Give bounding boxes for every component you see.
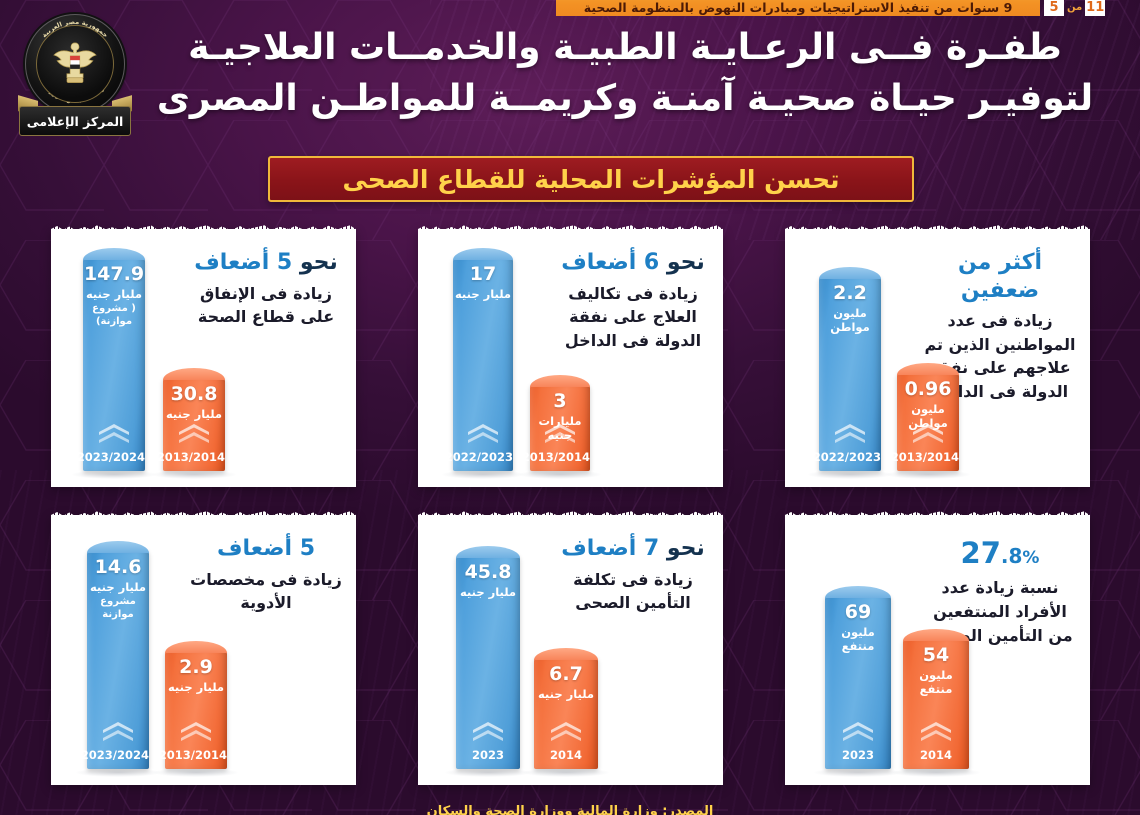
stat-card-highlight: نحو 5 أضعاف bbox=[190, 249, 342, 277]
highlight-accent: 7 أضعاف bbox=[561, 536, 659, 561]
bar-top-face bbox=[165, 641, 227, 653]
stat-card-inner: 5 أضعافزيادة فى مخصصات الأدوية14.6مليار … bbox=[51, 515, 356, 785]
stat-card: نحو 7 أضعافزيادة فى تكلفة التأمين الصحى4… bbox=[418, 515, 723, 785]
bar-year-label: 2022/2023 bbox=[819, 450, 881, 464]
bar-top-face bbox=[87, 541, 149, 553]
bar-current: 2.2مليون مواطن2022/2023 bbox=[819, 275, 881, 471]
title-line-2: لتوفيـر حيـاة صحيـة آمنـة وكريمــة للموا… bbox=[150, 73, 1100, 124]
bar-baseline: 6.7مليار جنيه2014 bbox=[534, 656, 598, 769]
chevron-up-icon bbox=[101, 721, 135, 743]
stat-card-text: 5 أضعافزيادة فى مخصصات الأدوية bbox=[190, 535, 342, 615]
source-footer-text: المصدر: وزارة المالية ووزارة الصحة والسك… bbox=[427, 804, 714, 815]
stat-card-highlight: 5 أضعاف bbox=[190, 535, 342, 563]
stat-card-description: زيادة فى تكلفة التأمين الصحى bbox=[557, 568, 709, 615]
stat-card: أكثر من ضعفينزيادة فى عدد المواطنين الذي… bbox=[785, 229, 1090, 487]
stat-card-description: زيادة فى الإنفاق على قطاع الصحة bbox=[190, 282, 342, 329]
highlight-accent: أكثر من ضعفين bbox=[958, 250, 1042, 303]
highlight-prefix: نحو bbox=[659, 536, 705, 561]
bar-note: ( مشروع موازنة) bbox=[83, 303, 145, 328]
bar-value: 14.6 bbox=[95, 558, 142, 578]
bar-unit: مليون منتفع bbox=[825, 625, 891, 654]
bar-top-face bbox=[819, 267, 881, 279]
bar-year-label: 2023 bbox=[825, 748, 891, 762]
page-total: 11 bbox=[1085, 0, 1105, 16]
stat-card-inner: نحو 6 أضعافزيادة فى تكاليف العلاج على نف… bbox=[418, 229, 723, 487]
emblem-inner-circle bbox=[36, 25, 114, 103]
chevron-up-icon bbox=[919, 721, 953, 743]
bar-unit: مليار جنيه bbox=[90, 580, 146, 594]
stat-card-inner: نحو 7 أضعافزيادة فى تكلفة التأمين الصحى4… bbox=[418, 515, 723, 785]
bar-baseline: 30.8مليار جنيه2013/2014 bbox=[163, 376, 225, 471]
bar-top-face bbox=[83, 248, 145, 260]
bar-value: 30.8 bbox=[171, 385, 218, 405]
bar-value: 2.2 bbox=[833, 284, 867, 304]
stat-card-highlight: 27.8% bbox=[924, 535, 1076, 571]
page-indicator: 11 من 5 bbox=[1044, 0, 1105, 16]
bar-unit: مليار جنيه bbox=[455, 287, 511, 301]
highlight-prefix: نحو bbox=[292, 250, 338, 275]
bar-year-label: 2013/2014 bbox=[163, 450, 225, 464]
bar-unit: مليار جنيه bbox=[538, 687, 594, 701]
bar-shadow bbox=[814, 768, 902, 777]
bar-value: 6.7 bbox=[549, 665, 583, 685]
bar-shadow bbox=[442, 470, 524, 479]
bar-shadow bbox=[808, 470, 892, 479]
bar-shadow bbox=[154, 768, 238, 777]
infographic-page: 9 سنوات من تنفيذ الاستراتيجيات ومبادرات … bbox=[0, 0, 1140, 815]
chevron-up-icon bbox=[97, 423, 131, 445]
highlight-accent: 6 أضعاف bbox=[561, 250, 659, 275]
source-footer: المصدر: وزارة المالية ووزارة الصحة والسك… bbox=[0, 800, 1140, 815]
bar-year-label: 2013/2014 bbox=[530, 450, 590, 464]
stat-card-inner: أكثر من ضعفينزيادة فى عدد المواطنين الذي… bbox=[785, 229, 1090, 487]
emblem-banner: المركز الإعلامى bbox=[19, 106, 131, 136]
bar-value: 0.96 bbox=[905, 380, 952, 400]
bar-year-label: 2023/2024 bbox=[83, 450, 145, 464]
highlight-accent: 5 أضعاف bbox=[217, 536, 315, 561]
highlight-prefix: نحو bbox=[659, 250, 705, 275]
stat-card-inner: 27.8%نسبة زيادة عدد الأفراد المنتفعين من… bbox=[785, 515, 1090, 785]
bar-value: 17 bbox=[470, 265, 496, 285]
bar-year-label: 2013/2014 bbox=[165, 748, 227, 762]
stat-card-text: نحو 7 أضعافزيادة فى تكلفة التأمين الصحى bbox=[557, 535, 709, 615]
top-banner-text: 9 سنوات من تنفيذ الاستراتيجيات ومبادرات … bbox=[584, 0, 1013, 15]
stat-card-inner: نحو 5 أضعافزيادة فى الإنفاق على قطاع الص… bbox=[51, 229, 356, 487]
bar-current: 45.8مليار جنيه2023 bbox=[456, 554, 520, 769]
bar-shadow bbox=[892, 768, 980, 777]
chevron-up-icon bbox=[466, 423, 500, 445]
eagle-icon bbox=[49, 38, 101, 90]
bar-unit: مليون منتفع bbox=[903, 668, 969, 697]
section-subtitle-text: تحسن المؤشرات المحلية للقطاع الصحى bbox=[343, 165, 840, 194]
stat-card-text: نحو 5 أضعافزيادة فى الإنفاق على قطاع الص… bbox=[190, 249, 342, 329]
stat-card-description: زيادة فى مخصصات الأدوية bbox=[190, 568, 342, 615]
stat-card: نحو 5 أضعافزيادة فى الإنفاق على قطاع الص… bbox=[51, 229, 356, 487]
bar-note: مشروع موازنة bbox=[87, 596, 149, 621]
chevron-up-icon bbox=[833, 423, 867, 445]
bar-current: 14.6مليار جنيهمشروع موازنة2023/2024 bbox=[87, 549, 149, 769]
chevron-up-icon bbox=[911, 423, 945, 445]
highlight-accent: 5 أضعاف bbox=[194, 250, 292, 275]
bar-top-face bbox=[534, 648, 598, 660]
bar-year-label: 2023 bbox=[456, 748, 520, 762]
bar-baseline: 54مليون منتفع2014 bbox=[903, 637, 969, 769]
page-title: طفـرة فــى الرعـايـة الطبيـة والخدمــات … bbox=[150, 22, 1100, 124]
bar-value: 45.8 bbox=[465, 563, 512, 583]
bar-current: 147.9مليار جنيه( مشروع موازنة)2023/2024 bbox=[83, 256, 145, 471]
title-line-1: طفـرة فــى الرعـايـة الطبيـة والخدمــات … bbox=[150, 22, 1100, 73]
chevron-up-icon bbox=[179, 721, 213, 743]
bar-current: 69مليون منتفع2023 bbox=[825, 594, 891, 769]
bar-baseline: 0.96مليون مواطن2013/2014 bbox=[897, 371, 959, 471]
bar-shadow bbox=[445, 768, 531, 777]
bar-top-face bbox=[163, 368, 225, 380]
bar-top-face bbox=[453, 248, 513, 260]
pct-int: 27 bbox=[961, 536, 1001, 570]
page-current: 5 bbox=[1044, 0, 1064, 16]
bar-unit: مليون مواطن bbox=[819, 306, 881, 335]
bar-shadow bbox=[152, 470, 236, 479]
bar-unit: مليار جنيه bbox=[86, 287, 142, 301]
bar-top-face bbox=[456, 546, 520, 558]
chevron-up-icon bbox=[543, 423, 577, 445]
bar-value: 3 bbox=[553, 392, 566, 412]
bar-shadow bbox=[76, 768, 160, 777]
bar-year-label: 2014 bbox=[534, 748, 598, 762]
bar-shadow bbox=[519, 470, 601, 479]
section-subtitle-banner: تحسن المؤشرات المحلية للقطاع الصحى bbox=[268, 156, 914, 202]
bar-value: 147.9 bbox=[84, 265, 144, 285]
stat-card-text: نحو 6 أضعافزيادة فى تكاليف العلاج على نف… bbox=[557, 249, 709, 353]
bar-year-label: 2014 bbox=[903, 748, 969, 762]
bar-year-label: 2022/2023 bbox=[453, 450, 513, 464]
page-of-label: من bbox=[1067, 2, 1082, 16]
stat-card-description: زيادة فى تكاليف العلاج على نفقة الدولة ف… bbox=[557, 282, 709, 353]
pct-sign: % bbox=[1022, 548, 1039, 568]
stat-card-highlight: نحو 7 أضعاف bbox=[557, 535, 709, 563]
stat-card-highlight: أكثر من ضعفين bbox=[924, 249, 1076, 304]
chevron-up-icon bbox=[549, 721, 583, 743]
bar-top-face bbox=[825, 586, 891, 598]
pct-dec: .8 bbox=[1001, 544, 1023, 568]
emblem-banner-text: المركز الإعلامى bbox=[27, 114, 124, 129]
bar-unit: مليار جنيه bbox=[168, 680, 224, 694]
bar-year-label: 2013/2014 bbox=[897, 450, 959, 464]
bar-year-label: 2023/2024 bbox=[87, 748, 149, 762]
stat-card: نحو 6 أضعافزيادة فى تكاليف العلاج على نف… bbox=[418, 229, 723, 487]
chevron-up-icon bbox=[177, 423, 211, 445]
top-banner: 9 سنوات من تنفيذ الاستراتيجيات ومبادرات … bbox=[556, 0, 1040, 16]
stat-card-highlight: نحو 6 أضعاف bbox=[557, 249, 709, 277]
bar-value: 54 bbox=[923, 646, 949, 666]
bar-shadow bbox=[886, 470, 970, 479]
stat-card: 5 أضعافزيادة فى مخصصات الأدوية14.6مليار … bbox=[51, 515, 356, 785]
bar-unit: مليار جنيه bbox=[460, 585, 516, 599]
bar-value: 2.9 bbox=[179, 658, 213, 678]
bar-shadow bbox=[523, 768, 609, 777]
bar-baseline: 2.9مليار جنيه2013/2014 bbox=[165, 649, 227, 769]
chevron-up-icon bbox=[841, 721, 875, 743]
bar-top-face bbox=[530, 375, 590, 387]
bar-baseline: 3مليارات جنيه2013/2014 bbox=[530, 383, 590, 471]
government-emblem: جمهورية مصر العربية رئاسة مجلس الوزراء ا… bbox=[14, 10, 136, 150]
stats-card-grid: أكثر من ضعفينزيادة فى عدد المواطنين الذي… bbox=[48, 229, 1090, 785]
bar-value: 69 bbox=[845, 603, 871, 623]
bar-current: 17مليار جنيه2022/2023 bbox=[453, 256, 513, 471]
stat-card: 27.8%نسبة زيادة عدد الأفراد المنتفعين من… bbox=[785, 515, 1090, 785]
bar-shadow bbox=[72, 470, 156, 479]
bar-unit: مليار جنيه bbox=[166, 407, 222, 421]
chevron-up-icon bbox=[471, 721, 505, 743]
